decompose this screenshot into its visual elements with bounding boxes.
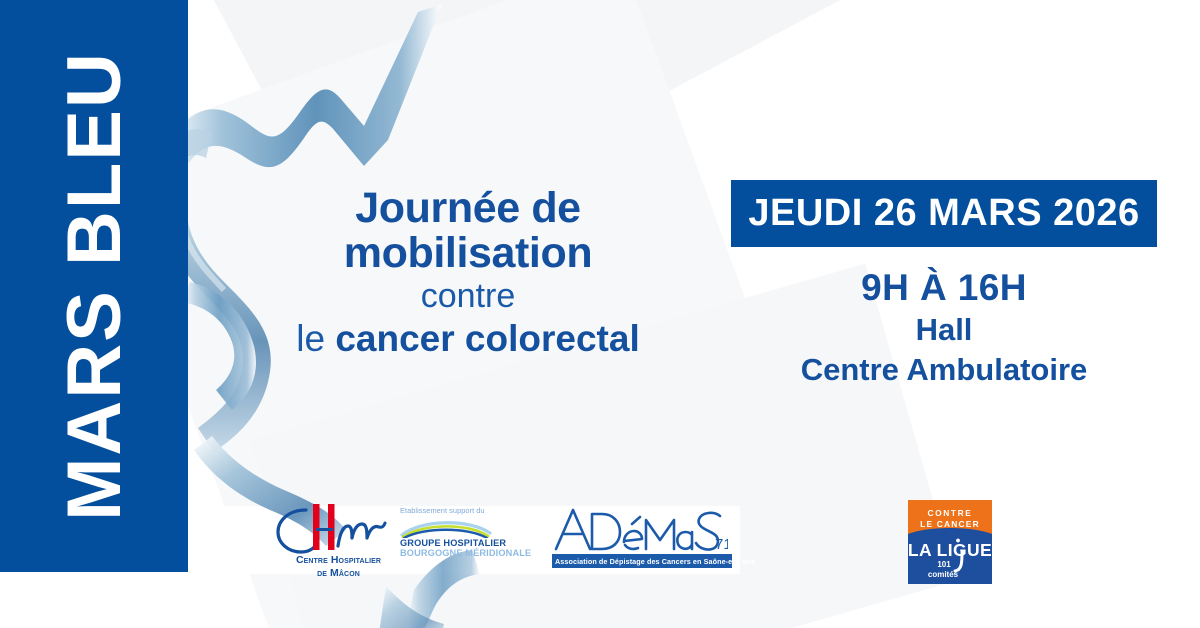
chm-name-block: Centre Hospitalier de Mâcon <box>272 554 405 580</box>
headline-line-4-strong: cancer colorectal <box>335 318 639 359</box>
logo-centre-hospitalier-macon: Centre Hospitalier de Mâcon Etablissemen… <box>272 502 484 584</box>
headline-line-3: contre <box>258 279 678 314</box>
event-date-banner: JEUDI 26 MARS 2026 <box>731 180 1157 247</box>
side-band-title: MARS BLEU <box>0 0 188 572</box>
la-ligue-logo-icon: CONTRE LE CANCER LA LIGUE 101 comités <box>908 500 992 584</box>
ademas-wordmark-icon: 71 <box>552 504 728 552</box>
ghbm-arcs-icon <box>400 516 492 538</box>
event-place-line-1: Hall <box>731 310 1157 350</box>
ademas-subtitle: Association de Dépistage des Cancers en … <box>552 554 732 568</box>
side-band: MARS BLEU <box>0 0 188 572</box>
headline-line-4-prefix: le <box>296 318 335 359</box>
ghbm-line-1: GROUPE HOSPITALIER <box>400 538 492 548</box>
headline-line-4: le cancer colorectal <box>258 320 678 358</box>
headline-line-1: Journée de <box>258 186 678 231</box>
ademas-number: 71 <box>715 536 728 552</box>
svg-text:CONTRE: CONTRE <box>928 508 973 518</box>
event-hours: 9H À 16H <box>731 267 1157 309</box>
chm-name-line-2: de Mâcon <box>272 567 405 580</box>
headline-block: Journée de mobilisation contre le cancer… <box>258 186 678 358</box>
chm-monogram-icon <box>272 502 402 556</box>
logo-la-ligue-contre-le-cancer: CONTRE LE CANCER LA LIGUE 101 comités <box>908 500 992 584</box>
logo-ademas: 71 Association de Dépistage des Cancers … <box>552 504 732 580</box>
svg-text:101: 101 <box>937 560 951 569</box>
event-place: Hall Centre Ambulatoire <box>731 310 1157 389</box>
event-place-line-2: Centre Ambulatoire <box>731 350 1157 390</box>
headline-line-2: mobilisation <box>258 231 678 276</box>
logo-groupe-hospitalier-bourgogne-meridionale: Etablissement support du GROUPE HOSPITAL… <box>400 506 492 558</box>
partner-logos-row: Centre Hospitalier de Mâcon Etablissemen… <box>0 492 1200 602</box>
svg-text:comités: comités <box>928 570 959 579</box>
event-date-text: JEUDI 26 MARS 2026 <box>748 192 1139 235</box>
chm-name-line-1: Centre Hospitalier <box>272 554 405 567</box>
svg-text:LA LIGUE: LA LIGUE <box>908 540 992 560</box>
ghbm-line-2: BOURGOGNE MÉRIDIONALE <box>400 548 492 558</box>
poster-canvas: MARS BLEU Journée de mobilisation contre… <box>0 0 1200 628</box>
ghbm-support-text: Etablissement support du <box>400 506 492 515</box>
svg-text:LE CANCER: LE CANCER <box>920 519 980 529</box>
